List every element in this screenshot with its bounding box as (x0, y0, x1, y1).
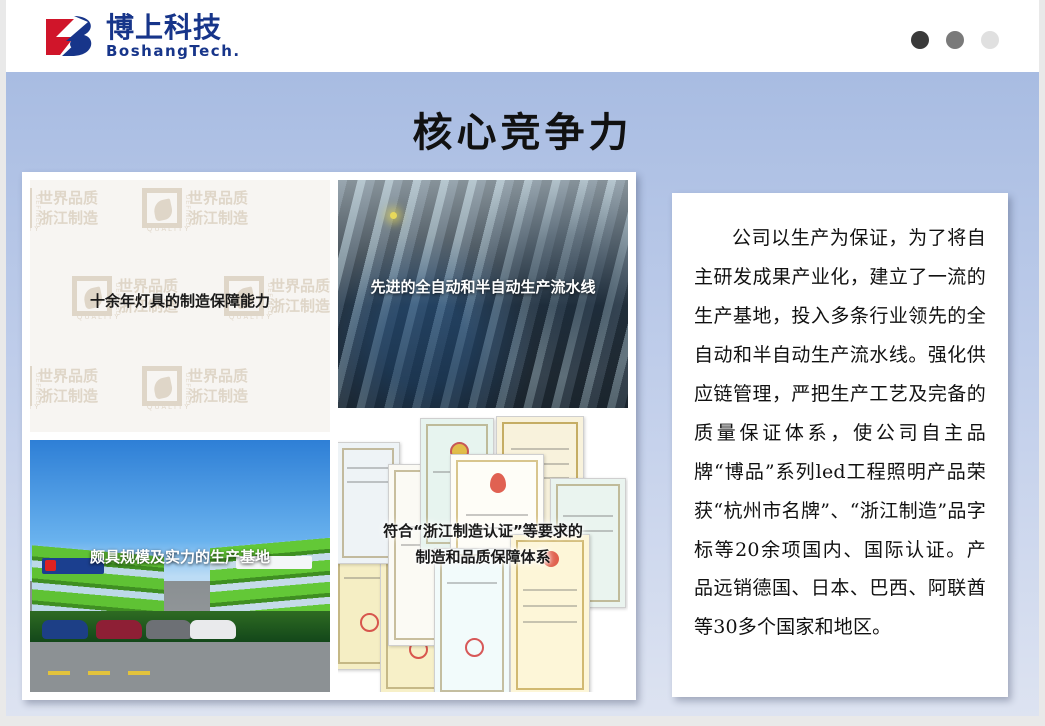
tile-caption: 颇具规模及实力的生产基地 (30, 548, 330, 567)
tile-caption-line2: 制造和品质保障体系 (338, 548, 628, 567)
certificate-image (434, 548, 510, 692)
image-collage: DEFINEDQUALITY 世界品质浙江制造 DEFINEDQUALITY 世… (30, 180, 628, 692)
page-title: 核心竞争力 (6, 100, 1039, 158)
logo-text: 博上科技 BoshangTech. (106, 14, 241, 59)
page-dot-1[interactable] (911, 31, 929, 49)
image-collage-card: DEFINEDQUALITY 世界品质浙江制造 DEFINEDQUALITY 世… (22, 172, 636, 700)
tile-production-base[interactable]: 颇具规模及实力的生产基地 (30, 440, 330, 692)
tile-caption-line1: 符合“浙江制造认证”等要求的 (338, 522, 628, 541)
boshang-b-logo-icon (44, 13, 98, 59)
slide-body: 核心竞争力 DEFINEDQUALITY 世界品质浙江制造 DEFINEDQUA… (6, 72, 1039, 716)
slide-page: 博上科技 BoshangTech. 核心竞争力 DEFINEDQUALITY 世… (0, 0, 1045, 726)
logo-company-en: BoshangTech. (106, 44, 241, 59)
tile-caption: 十余年灯具的制造保障能力 (30, 292, 330, 311)
tile-caption: 先进的全自动和半自动生产流水线 (338, 278, 628, 297)
tile-certifications[interactable]: 符合“浙江制造认证”等要求的 制造和品质保障体系 (338, 416, 628, 692)
parked-car (96, 620, 142, 639)
quality-mark-icon: DEFINEDQUALITY (142, 188, 182, 228)
road-area (30, 642, 330, 692)
logo-company-cn: 博上科技 (106, 14, 241, 42)
parked-car (190, 620, 236, 639)
page-dot-3[interactable] (981, 31, 999, 49)
parked-car (42, 620, 88, 639)
quality-mark-icon: DEFINEDQUALITY (30, 188, 32, 228)
quality-mark-icon: DEFINEDQUALITY (142, 366, 182, 406)
page-dot-2[interactable] (946, 31, 964, 49)
page-indicator-dots[interactable] (911, 31, 999, 49)
tile-manufacturing-capability[interactable]: DEFINEDQUALITY 世界品质浙江制造 DEFINEDQUALITY 世… (30, 180, 330, 432)
parked-car (146, 620, 192, 639)
app-header: 博上科技 BoshangTech. (6, 0, 1039, 72)
tile-automatic-production-line[interactable]: 先进的全自动和半自动生产流水线 (338, 180, 628, 408)
description-card: 公司以生产为保证，为了将自主研发成果产业化，建立了一流的生产基地，投入多条行业领… (672, 193, 1008, 697)
description-text: 公司以生产为保证，为了将自主研发成果产业化，建立了一流的生产基地，投入多条行业领… (694, 219, 986, 647)
company-logo[interactable]: 博上科技 BoshangTech. (44, 13, 241, 59)
quality-mark-icon: DEFINEDQUALITY (30, 366, 32, 406)
